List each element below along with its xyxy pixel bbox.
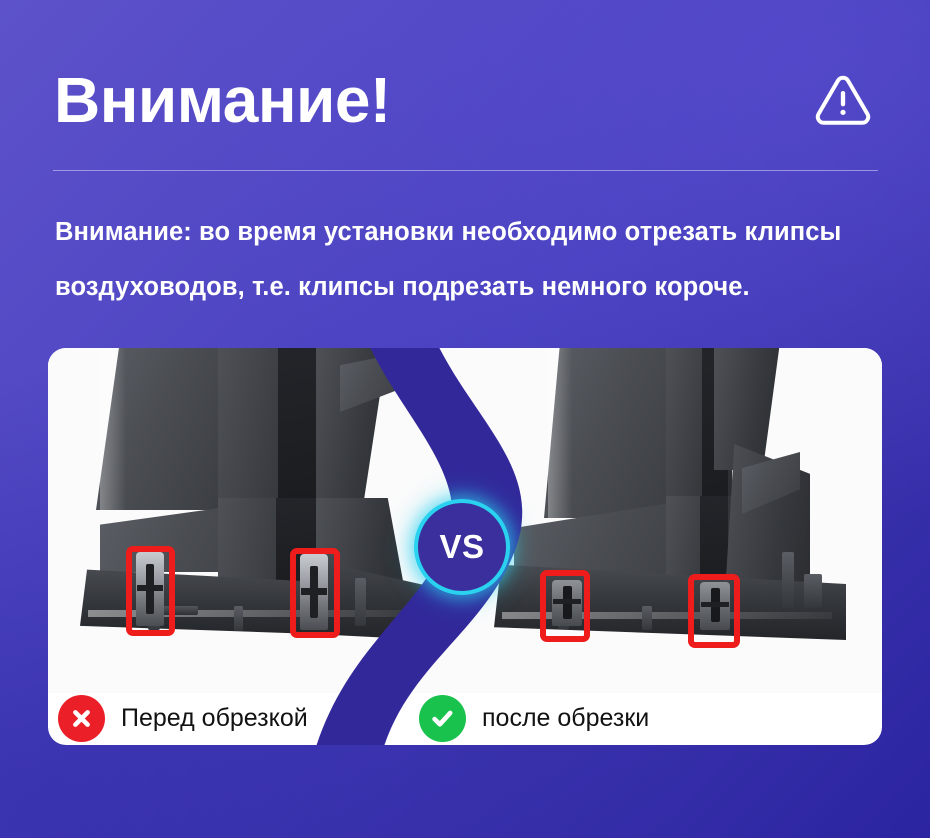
comparison-labels: Перед обрезкой после обрезки (48, 693, 882, 745)
before-label-group: Перед обрезкой (58, 695, 308, 742)
vs-badge: VS (414, 499, 510, 595)
after-label-group: после обрезки (419, 695, 649, 742)
highlight-box-left (126, 546, 175, 636)
attention-banner: Внимание! Внимание: во время установки н… (0, 0, 930, 838)
after-photo (452, 348, 882, 693)
after-image-pane (452, 348, 882, 693)
page-title: Внимание! (54, 68, 391, 132)
instruction-paragraph: Внимание: во время установки необходимо … (55, 205, 885, 315)
header-divider (53, 170, 878, 171)
before-label-text: Перед обрезкой (121, 704, 308, 733)
highlight-box-left (540, 570, 590, 642)
banner-header: Внимание! (54, 52, 880, 148)
warning-triangle-icon (814, 71, 872, 129)
highlight-box-right (290, 548, 340, 638)
before-image-pane (48, 348, 478, 693)
check-icon (419, 695, 466, 742)
before-photo (48, 348, 478, 693)
cross-icon (58, 695, 105, 742)
after-label-text: после обрезки (482, 704, 649, 733)
highlight-box-right (688, 574, 740, 648)
